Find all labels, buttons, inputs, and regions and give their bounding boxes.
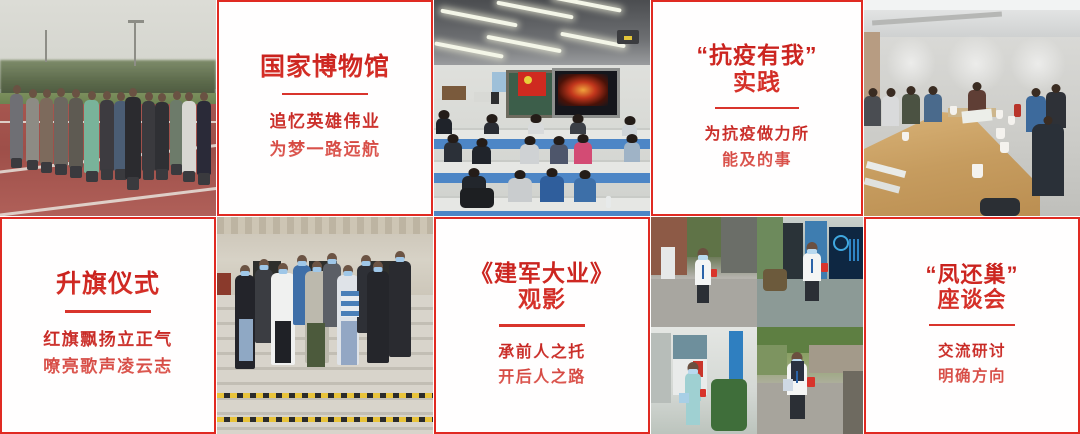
card-title: 国家博物馆: [260, 53, 390, 82]
flag-raising-lineup-photo: [0, 0, 216, 216]
card-divider: [929, 324, 1015, 327]
card-divider: [499, 324, 585, 327]
volunteer-photo-2: [757, 217, 863, 327]
volunteer-photo-3: [651, 327, 757, 434]
photo-text-collage: 国家博物馆 追忆英雄伟业 为梦一路远航: [0, 0, 1080, 434]
museum-group-photo: [217, 217, 433, 434]
photo-scene-classroom: [434, 0, 650, 216]
card-divider: [65, 310, 151, 313]
photo-scene-track: [0, 0, 216, 216]
volunteer-photo-4: [757, 327, 863, 434]
card-divider: [282, 93, 368, 96]
flag-raising-ceremony-card: 升旗仪式 红旗飘扬立正气 嘹亮歌声凌云志: [0, 217, 216, 434]
photo-scene-volunteer-collage: [651, 217, 863, 434]
card-title: “凤还巢” 座谈会: [925, 262, 1018, 313]
founding-of-an-army-card: 《建军大业》 观影 承前人之托 开后人之路: [434, 217, 650, 434]
card-title: “抗疫有我” 实践: [697, 42, 818, 95]
phoenix-returns-symposium-card: “凤还巢” 座谈会 交流研讨 明确方向: [864, 217, 1080, 434]
national-museum-card: 国家博物馆 追忆英雄伟业 为梦一路远航: [217, 0, 433, 216]
photo-scene-museum-steps: [217, 217, 433, 434]
conference-room-meeting-photo: [864, 0, 1080, 216]
card-subtitle: 追忆英雄伟业 为梦一路远航: [270, 108, 381, 163]
card-title: 《建军大业》 观影: [470, 260, 614, 313]
card-subtitle: 交流研讨 明确方向: [938, 339, 1006, 389]
card-subtitle: 承前人之托 开后人之路: [498, 340, 586, 392]
card-title: 升旗仪式: [56, 270, 160, 299]
card-subtitle: 红旗飘扬立正气 嘹亮歌声凌云志: [43, 326, 173, 381]
anti-epidemic-practice-card: “抗疫有我” 实践 为抗疫做力所 能及的事: [651, 0, 863, 216]
classroom-film-screening-photo: [434, 0, 650, 216]
card-subtitle: 为抗疫做力所 能及的事: [704, 122, 809, 174]
volunteer-photo-1: [651, 217, 757, 327]
volunteer-collage-photo: [651, 217, 863, 434]
photo-scene-conference: [864, 0, 1080, 216]
card-divider: [715, 107, 799, 110]
